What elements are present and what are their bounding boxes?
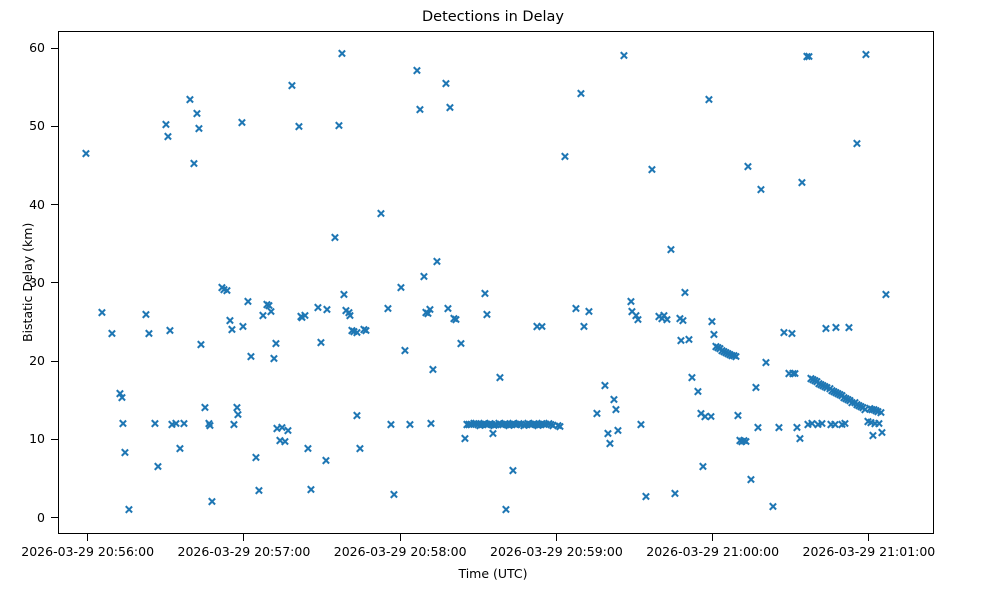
data-point: [269, 354, 278, 363]
data-point: [826, 420, 835, 429]
data-point: [600, 381, 609, 390]
data-point: [861, 50, 870, 59]
data-point: [168, 420, 177, 429]
data-point: [419, 272, 428, 281]
data-point: [833, 389, 842, 398]
data-point: [533, 421, 542, 430]
data-point: [810, 376, 819, 385]
data-point: [287, 81, 296, 90]
data-point: [535, 420, 544, 429]
data-point: [816, 380, 825, 389]
data-point: [814, 379, 823, 388]
data-point: [301, 311, 310, 320]
data-point: [751, 383, 760, 392]
data-point: [352, 411, 361, 420]
data-point: [837, 420, 846, 429]
data-point: [421, 308, 430, 317]
data-point: [359, 325, 368, 334]
data-point: [515, 419, 524, 428]
data-point: [846, 396, 855, 405]
data-point: [427, 419, 436, 428]
data-point: [488, 429, 497, 438]
x-axis-label: Time (UTC): [0, 566, 986, 581]
data-point: [405, 420, 414, 429]
data-point: [529, 419, 538, 428]
data-point: [457, 339, 466, 348]
data-point: [238, 118, 247, 127]
data-point: [798, 178, 807, 187]
data-point: [687, 373, 696, 382]
data-point: [804, 52, 813, 61]
data-point: [82, 149, 91, 158]
x-axis-tick-label: 2026-03-29 20:59:00: [486, 544, 626, 559]
data-point: [464, 420, 473, 429]
data-point: [741, 437, 750, 446]
data-point: [532, 322, 541, 331]
data-point: [819, 381, 828, 390]
data-point: [205, 421, 214, 430]
data-point: [579, 322, 588, 331]
data-point: [337, 49, 346, 58]
data-point: [660, 311, 669, 320]
data-point: [821, 324, 830, 333]
data-point: [654, 312, 663, 321]
data-point: [479, 419, 488, 428]
data-point: [262, 300, 271, 309]
data-point: [179, 419, 188, 428]
x-axis-tick: [868, 534, 869, 541]
data-point: [483, 310, 492, 319]
data-point: [485, 419, 494, 428]
data-point: [788, 369, 797, 378]
data-point: [475, 421, 484, 430]
y-axis-tick-label: 60: [0, 40, 45, 55]
data-point: [445, 103, 454, 112]
x-axis-tick-label: 2026-03-29 21:00:00: [643, 544, 783, 559]
data-point: [267, 307, 276, 316]
data-point: [658, 314, 667, 323]
data-point: [313, 303, 322, 312]
data-point: [504, 421, 513, 430]
data-point: [413, 66, 422, 75]
y-axis-tick-label: 0: [0, 510, 45, 525]
data-point: [471, 419, 480, 428]
data-point: [540, 420, 549, 429]
data-point: [870, 405, 879, 414]
data-point: [243, 297, 252, 306]
data-point: [264, 301, 273, 310]
x-axis-tick: [243, 534, 244, 541]
data-point: [298, 313, 307, 322]
data-point: [548, 421, 557, 430]
data-point: [296, 312, 305, 321]
data-point: [694, 387, 703, 396]
data-point: [355, 444, 364, 453]
data-point: [154, 462, 163, 471]
data-point: [350, 327, 359, 336]
data-point: [584, 307, 593, 316]
data-point: [844, 395, 853, 404]
x-axis-tick-label: 2026-03-29 20:58:00: [330, 544, 470, 559]
data-point: [483, 420, 492, 429]
data-point: [874, 407, 883, 416]
plot-area[interactable]: [58, 31, 934, 534]
data-point: [831, 388, 840, 397]
data-point: [473, 420, 482, 429]
data-point: [277, 423, 286, 432]
page-title: Detections in Delay: [0, 8, 986, 26]
data-point: [527, 420, 536, 429]
matplotlib-figure: Detections in Delay 0102030405060 2026-0…: [0, 0, 986, 590]
data-point: [627, 307, 636, 316]
data-point: [850, 398, 859, 407]
x-axis-tick: [712, 534, 713, 541]
data-point: [432, 257, 441, 266]
data-point: [546, 420, 555, 429]
data-point: [792, 423, 801, 432]
data-point: [538, 419, 547, 428]
data-point: [731, 352, 740, 361]
data-point: [496, 420, 505, 429]
data-point: [876, 408, 885, 417]
y-axis-tick: [51, 282, 58, 283]
data-point: [848, 398, 857, 407]
data-point: [163, 132, 172, 141]
data-point: [839, 393, 848, 402]
data-point: [361, 326, 370, 335]
data-point: [469, 419, 478, 428]
y-axis-tick-label: 20: [0, 353, 45, 368]
data-point: [208, 497, 217, 506]
data-point: [774, 423, 783, 432]
data-point: [609, 395, 618, 404]
data-point: [307, 485, 316, 494]
data-point: [592, 409, 601, 418]
data-point: [192, 109, 201, 118]
data-point: [867, 418, 876, 427]
data-point: [739, 436, 748, 445]
data-point: [316, 338, 325, 347]
y-axis-tick-label: 40: [0, 197, 45, 212]
data-point: [677, 336, 686, 345]
data-point: [494, 419, 503, 428]
data-point: [165, 326, 174, 335]
data-point: [812, 377, 821, 386]
data-point: [666, 245, 675, 254]
data-point: [283, 426, 292, 435]
data-point: [725, 350, 734, 359]
data-point: [854, 401, 863, 410]
data-point: [721, 348, 730, 357]
data-point: [175, 444, 184, 453]
data-point: [865, 404, 874, 413]
data-point: [449, 314, 458, 323]
data-point: [204, 419, 213, 428]
data-point: [761, 358, 770, 367]
data-point: [757, 185, 766, 194]
data-point: [823, 383, 832, 392]
data-point: [234, 410, 243, 419]
x-axis-tick: [556, 534, 557, 541]
data-point: [271, 339, 280, 348]
y-axis-label: Bistatic Delay (km): [20, 223, 35, 342]
data-point: [675, 314, 684, 323]
data-point: [808, 375, 817, 384]
data-point: [97, 308, 106, 317]
data-point: [803, 420, 812, 429]
data-point: [841, 419, 850, 428]
data-point: [717, 346, 726, 355]
data-point: [376, 209, 385, 218]
data-point: [251, 453, 260, 462]
data-point: [670, 489, 679, 498]
data-point: [727, 351, 736, 360]
data-point: [700, 412, 709, 421]
y-axis-tick-label: 10: [0, 431, 45, 446]
data-point: [813, 420, 822, 429]
data-point: [498, 420, 507, 429]
data-point: [488, 420, 497, 429]
data-point: [860, 405, 869, 414]
data-point: [115, 389, 124, 398]
data-point: [830, 420, 839, 429]
data-point: [871, 419, 880, 428]
data-point: [303, 444, 312, 453]
data-point: [632, 311, 641, 320]
scatter-points-layer: [59, 32, 933, 533]
data-point: [161, 120, 170, 129]
y-axis-tick: [51, 517, 58, 518]
data-point: [428, 365, 437, 374]
data-point: [708, 317, 717, 326]
data-point: [415, 105, 424, 114]
data-point: [829, 387, 838, 396]
data-point: [542, 420, 551, 429]
data-point: [500, 419, 509, 428]
data-point: [868, 431, 877, 440]
data-point: [576, 89, 585, 98]
data-point: [513, 420, 522, 429]
data-point: [246, 352, 255, 361]
data-point: [229, 420, 238, 429]
data-point: [863, 417, 872, 426]
data-point: [709, 330, 718, 339]
data-point: [259, 311, 268, 320]
data-point: [218, 283, 227, 292]
data-point: [715, 344, 724, 353]
data-point: [832, 323, 841, 332]
data-point: [684, 335, 693, 344]
data-point: [537, 322, 546, 331]
data-point: [444, 304, 453, 313]
x-axis-tick: [87, 534, 88, 541]
data-point: [200, 403, 209, 412]
data-point: [790, 369, 799, 378]
data-point: [386, 420, 395, 429]
data-point: [827, 386, 836, 395]
data-point: [339, 290, 348, 299]
data-point: [723, 349, 732, 358]
data-point: [397, 283, 406, 292]
data-point: [648, 165, 657, 174]
data-point: [825, 384, 834, 393]
data-point: [525, 420, 534, 429]
data-point: [280, 437, 289, 446]
data-point: [553, 421, 562, 430]
data-point: [881, 290, 890, 299]
data-point: [735, 436, 744, 445]
data-point: [852, 139, 861, 148]
data-point: [232, 403, 241, 412]
data-point: [501, 505, 510, 514]
x-axis-tick-label: 2026-03-29 20:56:00: [18, 544, 158, 559]
data-point: [425, 305, 434, 314]
data-point: [795, 434, 804, 443]
data-point: [699, 462, 708, 471]
data-point: [141, 310, 150, 319]
y-axis-tick: [51, 439, 58, 440]
data-point: [481, 420, 490, 429]
data-point: [390, 490, 399, 499]
data-point: [451, 315, 460, 324]
data-point: [508, 419, 517, 428]
data-point: [118, 419, 127, 428]
data-point: [837, 391, 846, 400]
data-point: [787, 329, 796, 338]
data-point: [254, 486, 263, 495]
data-point: [496, 373, 505, 382]
data-point: [145, 329, 154, 338]
y-axis-tick: [51, 126, 58, 127]
data-point: [858, 403, 867, 412]
data-point: [222, 286, 231, 295]
data-point: [641, 492, 650, 501]
data-point: [517, 420, 526, 429]
data-point: [571, 304, 580, 313]
data-point: [401, 346, 410, 355]
data-point: [620, 51, 629, 60]
data-point: [807, 419, 816, 428]
data-point: [467, 420, 476, 429]
data-point: [785, 369, 794, 378]
data-point: [712, 342, 721, 351]
data-point: [330, 233, 339, 242]
data-point: [150, 419, 159, 428]
data-point: [294, 122, 303, 131]
data-point: [845, 323, 854, 332]
x-axis-tick: [400, 534, 401, 541]
data-point: [523, 419, 532, 428]
data-point: [492, 420, 501, 429]
data-point: [238, 322, 247, 331]
data-point: [196, 340, 205, 349]
data-point: [605, 439, 614, 448]
data-point: [719, 347, 728, 356]
data-point: [441, 79, 450, 88]
data-point: [506, 420, 515, 429]
data-point: [603, 429, 612, 438]
data-point: [872, 406, 881, 415]
data-point: [509, 466, 518, 475]
data-point: [384, 304, 393, 313]
data-point: [733, 411, 742, 420]
data-point: [477, 420, 486, 429]
data-point: [510, 420, 519, 429]
data-point: [852, 400, 861, 409]
data-point: [802, 52, 811, 61]
data-point: [117, 393, 126, 402]
data-point: [634, 315, 643, 324]
data-point: [195, 124, 204, 133]
data-point: [636, 420, 645, 429]
data-point: [124, 505, 133, 514]
y-axis-tick: [51, 204, 58, 205]
data-point: [544, 419, 553, 428]
x-axis-tick-label: 2026-03-29 20:57:00: [174, 544, 314, 559]
data-point: [679, 316, 688, 325]
data-point: [707, 412, 716, 421]
data-point: [227, 325, 236, 334]
data-point: [737, 437, 746, 446]
data-point: [806, 374, 815, 383]
data-point: [480, 289, 489, 298]
data-point: [273, 424, 282, 433]
data-point: [334, 121, 343, 130]
data-point: [460, 434, 469, 443]
data-point: [697, 409, 706, 418]
data-point: [172, 419, 181, 428]
data-point: [275, 436, 284, 445]
data-point: [729, 351, 738, 360]
data-point: [856, 402, 865, 411]
data-point: [746, 475, 755, 484]
data-point: [817, 419, 826, 428]
data-point: [821, 382, 830, 391]
data-point: [867, 405, 876, 414]
x-axis-tick-label: 2026-03-29 21:01:00: [799, 544, 939, 559]
data-point: [186, 95, 195, 104]
y-axis-tick: [51, 48, 58, 49]
data-point: [189, 159, 198, 168]
data-point: [743, 162, 752, 171]
data-point: [835, 390, 844, 399]
data-point: [556, 422, 565, 431]
data-point: [490, 421, 499, 430]
data-point: [875, 419, 884, 428]
data-point: [662, 315, 671, 324]
data-point: [321, 456, 330, 465]
data-point: [841, 394, 850, 403]
data-point: [225, 316, 234, 325]
data-point: [108, 329, 117, 338]
data-point: [561, 152, 570, 161]
data-point: [779, 328, 788, 337]
data-point: [322, 305, 331, 314]
data-point: [753, 423, 762, 432]
data-point: [462, 420, 471, 429]
data-point: [626, 297, 635, 306]
data-point: [877, 428, 886, 437]
data-point: [348, 326, 357, 335]
data-point: [681, 288, 690, 297]
data-point: [531, 420, 540, 429]
data-point: [423, 309, 432, 318]
y-axis-tick: [51, 361, 58, 362]
data-point: [713, 343, 722, 352]
data-point: [121, 448, 130, 457]
data-point: [352, 328, 361, 337]
y-axis-tick-label: 50: [0, 118, 45, 133]
